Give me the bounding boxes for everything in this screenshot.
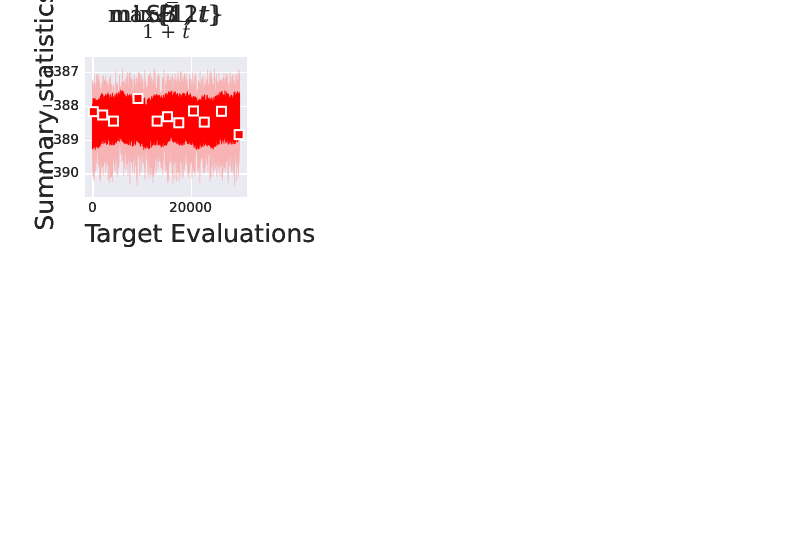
x-tick-label: 0 xyxy=(88,200,97,216)
subplot-title: LSB 2 xyxy=(85,2,247,28)
data-marker-square xyxy=(98,111,107,120)
subplot-lsb-2: Summary statisticsLSB 2−387−388−389−3900… xyxy=(0,0,265,275)
y-tick-labels: −387−388−389−390 xyxy=(20,57,79,197)
x-tick-label: 20000 xyxy=(169,200,212,216)
data-marker-square xyxy=(189,106,198,115)
data-marker-square xyxy=(109,117,118,126)
y-tick-label: −390 xyxy=(20,166,79,180)
data-marker-square xyxy=(200,118,209,127)
x-tick-labels: 020000 xyxy=(85,200,247,220)
figure-canvas: Summary statisticst1 + t−387−388−389−390… xyxy=(0,0,800,550)
data-marker-square xyxy=(163,112,172,121)
data-marker-square xyxy=(89,107,98,116)
y-tick-label: −389 xyxy=(20,133,79,147)
y-tick-label: −387 xyxy=(20,65,79,79)
data-marker-square xyxy=(217,107,226,116)
trace-group xyxy=(85,57,247,197)
y-tick-label: −388 xyxy=(20,99,79,113)
data-marker-square xyxy=(174,118,183,127)
data-marker-square xyxy=(134,94,143,103)
x-axis-label: Target Evaluations xyxy=(85,219,247,249)
plot-area xyxy=(85,57,247,197)
data-marker-square xyxy=(153,117,162,126)
data-marker-square xyxy=(235,130,244,139)
